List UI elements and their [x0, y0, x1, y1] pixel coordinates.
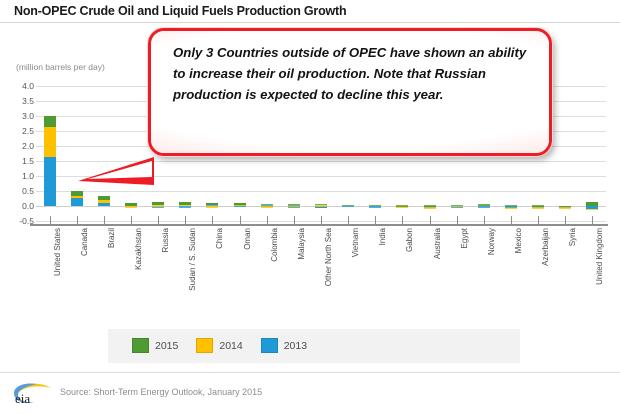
category-label: Mexico — [514, 228, 523, 253]
bar-segment — [234, 205, 246, 207]
y-axis-tick-label: 0.0 — [4, 201, 34, 211]
callout-text: Only 3 Countries outside of OPEC have sh… — [173, 42, 533, 106]
category-label: Gabon — [405, 228, 414, 252]
title-divider — [0, 22, 620, 23]
y-axis-tick-label: 2.5 — [4, 126, 34, 136]
category-tick — [348, 216, 349, 225]
category-label: Kazakhstan — [134, 228, 143, 270]
category-label: United States — [53, 228, 62, 276]
category-tick — [565, 216, 566, 225]
legend-label: 2015 — [155, 340, 178, 352]
bar-column — [71, 86, 83, 222]
category-tick — [104, 216, 105, 225]
svg-text:eia: eia — [15, 391, 30, 406]
y-axis-tick-label: 3.5 — [4, 96, 34, 106]
bar-segment — [288, 206, 300, 208]
bar-segment — [315, 204, 327, 206]
category-label: Norway — [487, 228, 496, 255]
category-tick — [77, 216, 78, 225]
category-label: Russia — [161, 228, 170, 252]
bar-segment — [532, 205, 544, 207]
bar-column — [98, 86, 110, 222]
category-tick — [158, 216, 159, 225]
category-label: Syria — [568, 228, 577, 246]
bar-segment — [179, 202, 191, 204]
bar-segment — [315, 205, 327, 207]
bar-segment — [234, 203, 246, 205]
category-label: Vietnam — [351, 228, 360, 257]
bar-segment — [206, 203, 218, 205]
bar-segment — [505, 205, 517, 207]
category-tick — [375, 216, 376, 225]
legend-item[interactable]: 2014 — [196, 338, 242, 353]
category-label: China — [215, 228, 224, 249]
y-axis-tick-label: 3.0 — [4, 111, 34, 121]
legend-swatch — [196, 338, 213, 353]
bar-segment — [559, 206, 571, 208]
bar-segment — [152, 205, 164, 207]
axis-units-caption: (million barrels per day) — [16, 62, 105, 72]
bar-segment — [44, 157, 56, 206]
category-tick — [430, 216, 431, 225]
footer-divider — [0, 372, 620, 373]
category-tick — [321, 216, 322, 225]
y-axis-tick-label: 2.0 — [4, 141, 34, 151]
y-axis-tick-label: 1.0 — [4, 171, 34, 181]
bar-segment — [532, 207, 544, 209]
category-tick — [484, 216, 485, 225]
bar-segment — [451, 205, 463, 207]
category-tick — [294, 216, 295, 225]
category-label: Azerbaijan — [541, 228, 550, 266]
legend-swatch — [132, 338, 149, 353]
category-axis-ticks — [36, 216, 606, 226]
bar-segment — [71, 191, 83, 196]
category-label: Colombia — [270, 228, 279, 262]
bar-segment — [179, 205, 191, 207]
bar-column — [586, 86, 598, 222]
bar-segment — [505, 208, 517, 210]
bar-segment — [424, 205, 436, 207]
bar-segment — [424, 207, 436, 209]
category-tick — [267, 216, 268, 225]
category-tick — [538, 216, 539, 225]
bar-segment — [71, 198, 83, 206]
page-title: Non-OPEC Crude Oil and Liquid Fuels Prod… — [14, 4, 346, 18]
legend-label: 2013 — [284, 340, 307, 352]
bar-column — [125, 86, 137, 222]
bar-segment — [261, 204, 273, 206]
category-label: Egypt — [460, 228, 469, 248]
y-axis-tick-label: 1.5 — [4, 156, 34, 166]
bar-segment — [288, 204, 300, 206]
bar-segment — [125, 203, 137, 206]
bar-segment — [369, 205, 381, 207]
legend: 201520142013 — [108, 329, 520, 363]
category-axis-labels: United StatesCanadaBrazilKazakhstanRussi… — [36, 228, 606, 323]
category-tick — [457, 216, 458, 225]
bar-segment — [586, 202, 598, 206]
callout-bubble: Only 3 Countries outside of OPEC have sh… — [148, 28, 552, 156]
bar-segment — [44, 127, 56, 158]
category-label: Brazil — [107, 228, 116, 248]
bar-segment — [98, 203, 110, 206]
bar-segment — [559, 207, 571, 209]
category-label: India — [378, 228, 387, 245]
bar-column — [559, 86, 571, 222]
category-label: Other North Sea — [324, 228, 333, 286]
y-axis-tick-label: 4.0 — [4, 81, 34, 91]
bar-segment — [206, 206, 218, 208]
bar-column — [44, 86, 56, 222]
y-axis: 4.03.53.02.52.01.51.00.50.0-0.5 — [0, 86, 34, 222]
category-tick — [212, 216, 213, 225]
eia-logo-icon: eia — [12, 380, 54, 406]
category-label: Australia — [433, 228, 442, 259]
bar-segment — [396, 205, 408, 207]
category-tick — [511, 216, 512, 225]
legend-label: 2014 — [219, 340, 242, 352]
legend-item[interactable]: 2013 — [261, 338, 307, 353]
bar-segment — [152, 202, 164, 205]
bar-segment — [71, 196, 83, 199]
category-label: United Kingdom — [595, 228, 604, 285]
legend-item[interactable]: 2015 — [132, 338, 178, 353]
legend-swatch — [261, 338, 278, 353]
bar-segment — [478, 204, 490, 206]
category-tick — [131, 216, 132, 225]
bar-segment — [342, 205, 354, 207]
bar-segment — [98, 200, 110, 203]
chart-page: Non-OPEC Crude Oil and Liquid Fuels Prod… — [0, 0, 620, 414]
bar-segment — [98, 196, 110, 200]
category-tick — [592, 216, 593, 225]
bar-segment — [586, 209, 598, 211]
category-tick — [50, 216, 51, 225]
bar-segment — [125, 206, 137, 208]
category-label: Oman — [243, 228, 252, 250]
category-label: Malaysia — [297, 228, 306, 260]
callout-pointer-icon — [78, 155, 158, 187]
y-axis-tick-label: 0.5 — [4, 186, 34, 196]
category-tick — [185, 216, 186, 225]
category-tick — [402, 216, 403, 225]
category-label: Sudan / S. Sudan — [188, 228, 197, 291]
bar-segment — [44, 116, 56, 127]
bar-segment — [261, 206, 273, 208]
source-note: Source: Short-Term Energy Outlook, Janua… — [60, 387, 262, 397]
legend-items: 201520142013 — [132, 338, 325, 353]
category-label: Canada — [80, 228, 89, 256]
category-tick — [240, 216, 241, 225]
